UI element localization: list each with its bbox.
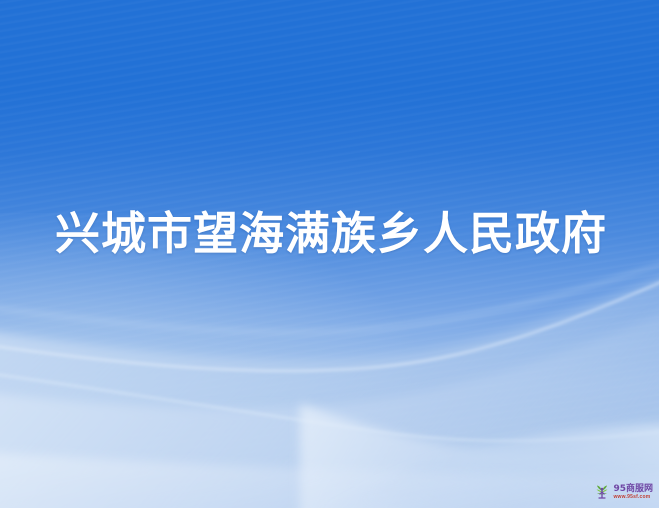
watermark-site-url: www.95sf.com bbox=[613, 495, 653, 500]
watermark: 95商服网 www.95sf.com bbox=[594, 484, 653, 500]
page-title: 兴城市望海满族乡人民政府 bbox=[55, 206, 607, 262]
watermark-site-name: 95商服网 bbox=[613, 485, 653, 494]
page-title-container: 兴城市望海满族乡人民政府 bbox=[55, 206, 607, 262]
sprout-person-icon bbox=[594, 484, 610, 500]
watermark-text-block: 95商服网 www.95sf.com bbox=[613, 485, 653, 500]
government-site-banner: 兴城市望海满族乡人民政府 95商服网 www.95sf.com bbox=[0, 0, 659, 508]
